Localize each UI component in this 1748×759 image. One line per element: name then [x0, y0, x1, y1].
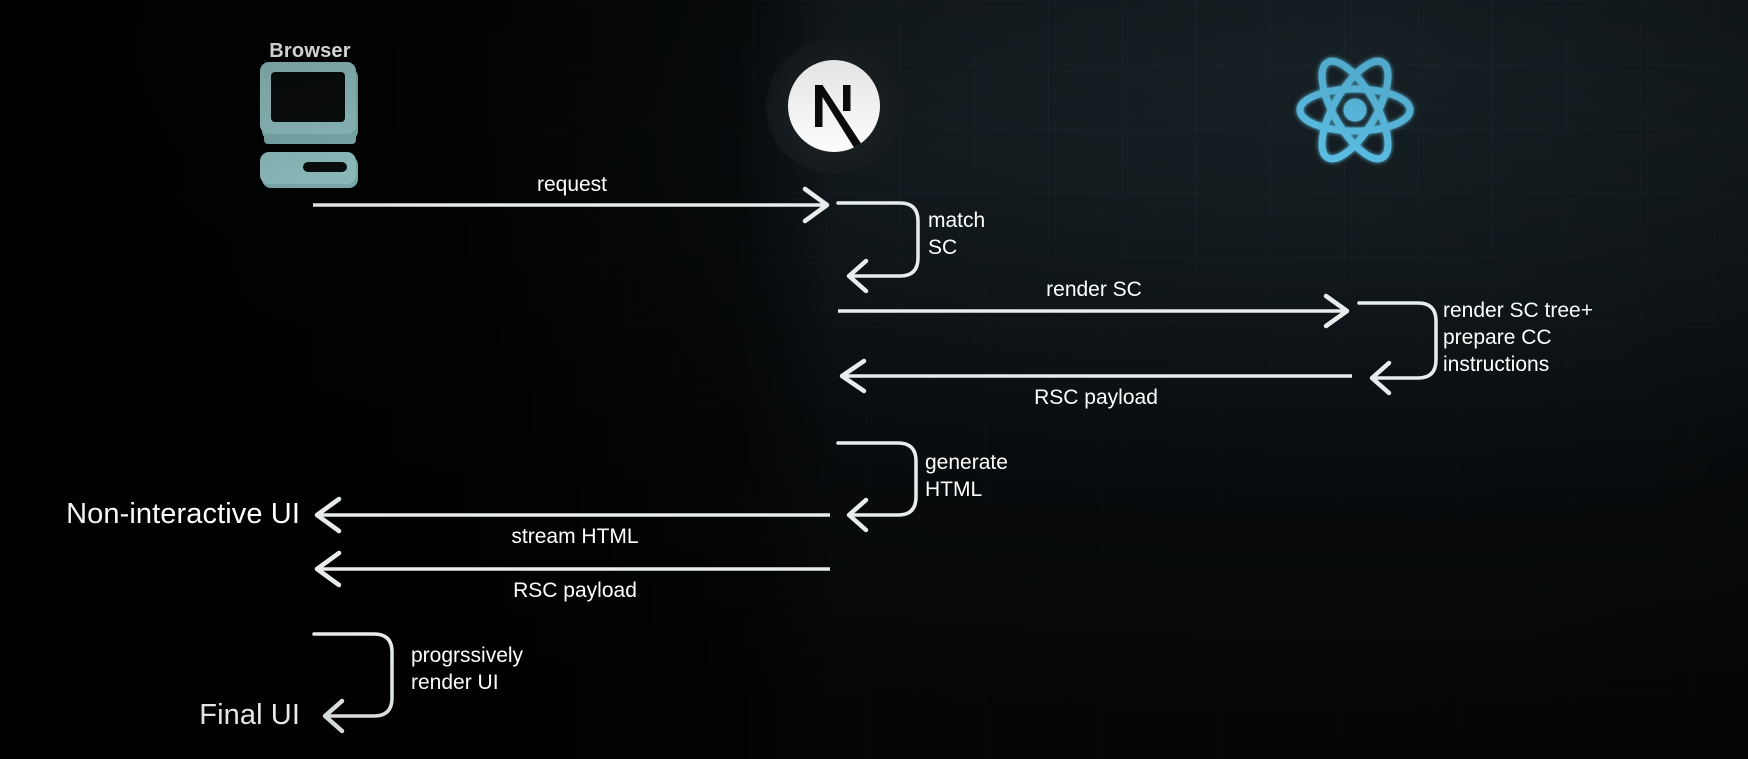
label-stream-html: stream HTML — [511, 524, 638, 551]
nextjs-logo-icon — [788, 60, 880, 152]
message-arrow-render-sc-tree — [1359, 303, 1436, 393]
actor-browser: Browser — [269, 40, 350, 66]
label-generate-html-line2: HTML — [925, 477, 1008, 504]
label-generate-html: generate HTML — [925, 450, 1008, 504]
message-arrow-progressive-render — [314, 634, 392, 731]
label-render-sc-tree-line1: render SC tree+ — [1443, 298, 1593, 325]
label-render-sc-tree-line2: prepare CC — [1443, 325, 1593, 352]
label-render-sc-tree-line3: instructions — [1443, 352, 1593, 379]
label-request: request — [537, 172, 607, 199]
message-arrow-match-sc — [838, 203, 918, 291]
label-progressive-render-line2: render UI — [411, 670, 523, 697]
label-non-interactive-ui: Non-interactive UI — [66, 498, 300, 531]
label-progressive-render: progrssively render UI — [411, 643, 523, 697]
label-final-ui: Final UI — [199, 699, 300, 732]
label-match-sc-line2: SC — [928, 235, 985, 262]
label-render-sc: render SC — [1046, 277, 1142, 304]
nextjs-n-glyph — [788, 60, 880, 152]
label-progressive-render-line1: progrssively — [411, 643, 523, 670]
actor-browser-label: Browser — [269, 40, 350, 63]
label-match-sc: match SC — [928, 208, 985, 262]
label-generate-html-line1: generate — [925, 450, 1008, 477]
computer-monitor-icon — [260, 62, 358, 188]
label-render-sc-tree: render SC tree+ prepare CC instructions — [1443, 298, 1593, 379]
label-rsc-payload-1: RSC payload — [1034, 385, 1158, 412]
sequence-diagram-canvas: Browser request match SC render SC rende… — [0, 0, 1748, 759]
label-rsc-payload-2: RSC payload — [513, 578, 637, 605]
label-match-sc-line1: match — [928, 208, 985, 235]
react-atom-icon — [1300, 52, 1410, 168]
message-arrow-generate-html — [838, 443, 916, 530]
